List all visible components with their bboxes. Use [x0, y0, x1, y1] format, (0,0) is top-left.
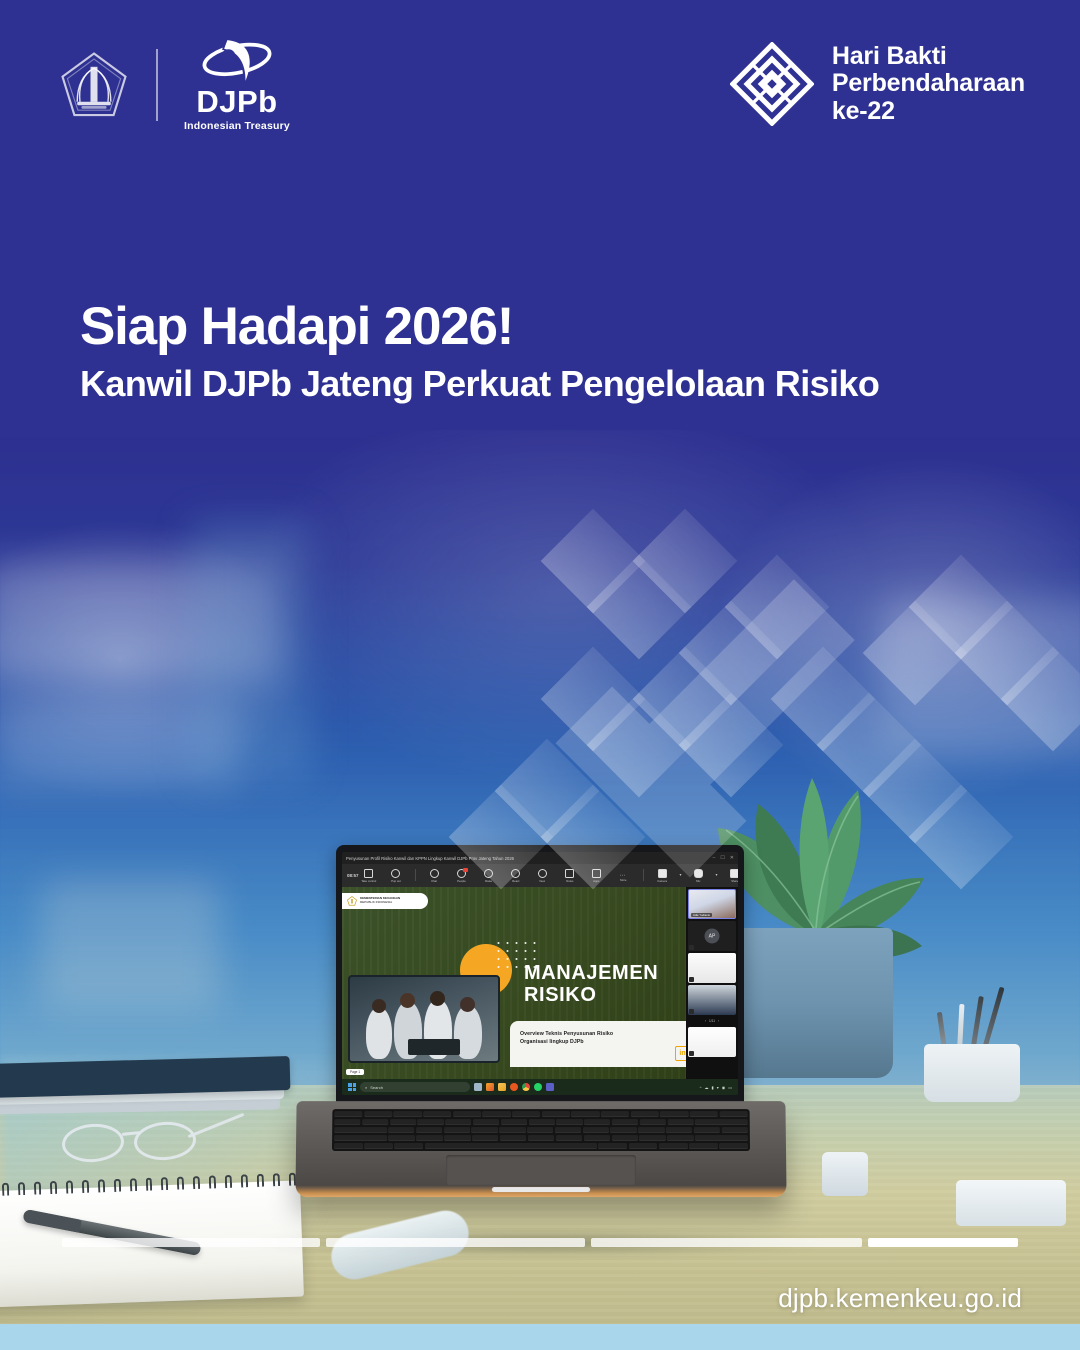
slide-title-line1: MANAJEMEN	[524, 963, 658, 985]
firefox-icon[interactable]	[510, 1083, 518, 1091]
hari-bakti-wordmark: Hari Bakti Perbendaharaan ke-22	[832, 43, 1025, 126]
avatar: AP	[705, 929, 720, 944]
meeting-window-titlebar: Penyusunan Profil Risiko Kanwil dan KPPN…	[342, 852, 738, 864]
hari-bakti-line2: Perbendaharaan	[832, 70, 1025, 98]
toolbar-item-notes[interactable]: Notes	[560, 869, 580, 883]
participant-tile[interactable]	[688, 985, 736, 1015]
headline-block: Siap Hadapi 2026! Kanwil DJPb Jateng Per…	[80, 300, 879, 403]
network-icon[interactable]: ▮	[712, 1085, 714, 1090]
cup-body	[924, 1044, 1020, 1102]
mic-icon	[694, 869, 703, 878]
view-icon	[538, 869, 547, 878]
progress-segment[interactable]	[326, 1238, 584, 1247]
toolbar-item-share[interactable]: Share	[725, 869, 738, 883]
store-icon[interactable]	[486, 1083, 494, 1091]
progress-segment[interactable]	[62, 1238, 320, 1247]
participant-rail[interactable]: Adie Yudianto AP ‹	[686, 887, 738, 1079]
maximize-icon[interactable]: ☐	[720, 855, 724, 861]
toolbar-label: Raise	[485, 879, 492, 883]
meeting-toolbar: 08:57 Take control Pop out	[342, 864, 738, 887]
progress-segment[interactable]	[591, 1238, 863, 1247]
hari-bakti-line1: Hari Bakti	[832, 43, 1025, 71]
djpb-wordmark: DJPb	[196, 86, 277, 117]
minimize-icon[interactable]: –	[713, 855, 716, 861]
hari-bakti-line3: ke-22	[832, 98, 1025, 126]
laptop-keyboard	[332, 1109, 750, 1151]
windows-taskbar[interactable]: ⌕ Search ^ ☁ ▮ ▾ ◉	[342, 1079, 738, 1095]
slide-caption-card: Overview Teknis Penyusunan Risiko Organi…	[510, 1021, 686, 1067]
toolbar-label: Camera	[658, 879, 668, 883]
chat-icon	[430, 869, 439, 878]
toolbar-label: Share	[731, 879, 738, 883]
task-view-icon[interactable]	[474, 1083, 482, 1091]
laptop-lid: Penyusunan Profil Risiko Kanwil dan KPPN…	[336, 845, 744, 1105]
teams-icon[interactable]	[546, 1083, 554, 1091]
toolbar-label: Take control	[361, 879, 376, 883]
mic-off-icon	[689, 977, 694, 982]
slide-caption-line2: Organisasi lingkup DJPb	[520, 1038, 686, 1046]
camera-icon	[658, 869, 667, 878]
toolbar-item-raise[interactable]: Raise	[479, 869, 499, 883]
participant-tile[interactable]: AP	[688, 921, 736, 951]
toolbar-label: More	[620, 878, 626, 882]
show-hidden-icons-icon[interactable]: ^	[700, 1085, 702, 1090]
pencil-cup	[924, 1010, 1020, 1102]
toolbar-label: Apps	[593, 879, 599, 883]
story-progress-bar[interactable]	[62, 1238, 1018, 1247]
participant-tile[interactable]	[688, 953, 736, 983]
djpb-tagline: Indonesian Treasury	[184, 120, 290, 132]
backdrop-blur-shape	[880, 600, 1080, 760]
page-subtitle: Kanwil DJPb Jateng Perkuat Pengelolaan R…	[80, 365, 879, 403]
poster-canvas: Penyusunan Profil Risiko Kanwil dan KPPN…	[0, 0, 1080, 1350]
slide-page-chip[interactable]: Page 1	[346, 1069, 364, 1075]
participant-pager[interactable]: ‹ 1/11 ›	[688, 1017, 736, 1025]
close-icon[interactable]: ✕	[730, 855, 734, 861]
pager-next-icon[interactable]: ›	[718, 1019, 719, 1023]
toolbar-item-pop-out[interactable]: Pop out	[386, 869, 406, 883]
taskbar-search-input[interactable]: ⌕ Search	[360, 1082, 470, 1092]
battery-icon[interactable]: ▭	[728, 1085, 732, 1090]
window-controls[interactable]: – ☐ ✕	[713, 855, 734, 861]
chevron-down-icon[interactable]: ▾	[680, 872, 682, 877]
pager-prev-icon[interactable]: ‹	[705, 1019, 706, 1023]
toolbar-item-mic[interactable]: Mic	[689, 869, 709, 883]
toolbar-divider	[643, 869, 644, 881]
toolbar-label: Pop out	[391, 879, 400, 883]
toolbar-item-react[interactable]: React	[506, 869, 526, 883]
header-left-logo-group: DJPb Indonesian Treasury	[58, 38, 290, 132]
whatsapp-icon[interactable]	[534, 1083, 542, 1091]
onedrive-icon[interactable]: ☁	[705, 1085, 709, 1090]
toolbar-label: React	[512, 879, 519, 883]
toolbar-item-chat[interactable]: Chat	[425, 869, 445, 883]
toolbar-item-apps[interactable]: Apps	[587, 869, 607, 883]
participant-name: Adie Yudianto	[691, 913, 712, 917]
meeting-content-area: KEMENTERIAN KEUANGAN REPUBLIK INDONESIA	[342, 887, 738, 1079]
mic-off-icon	[689, 1051, 694, 1056]
djpb-swoosh-icon	[194, 38, 280, 84]
pop-out-icon	[391, 869, 400, 878]
backdrop-blur-shape	[190, 520, 310, 780]
toolbar-item-people[interactable]: People	[452, 869, 472, 883]
linkedin-icon: in	[675, 1046, 686, 1061]
laptop-front-notch	[492, 1187, 590, 1192]
header-right-logo-group: Hari Bakti Perbendaharaan ke-22	[730, 42, 1025, 126]
logo-divider	[156, 49, 158, 121]
meeting-clock: 08:57	[347, 873, 359, 878]
search-icon: ⌕	[365, 1085, 367, 1090]
toolbar-item-view[interactable]: View	[533, 869, 553, 883]
slide-caption-line1: Overview Teknis Penyusunan Risiko	[520, 1030, 686, 1038]
take-control-icon	[364, 869, 373, 878]
backdrop-blur-shape	[40, 880, 220, 1010]
meeting-tool-group: Take control Pop out Chat	[359, 869, 738, 883]
meeting-window-title: Penyusunan Profil Risiko Kanwil dan KPPN…	[346, 856, 514, 861]
slide-org-chip: KEMENTERIAN KEUANGAN REPUBLIK INDONESIA	[342, 893, 428, 909]
raise-hand-icon	[484, 869, 493, 878]
laptop-trackpad	[446, 1155, 636, 1185]
slide-photo	[348, 975, 500, 1063]
participant-tile[interactable]: Adie Yudianto	[688, 889, 736, 919]
toolbar-divider	[415, 869, 416, 881]
eyeglasses	[62, 1122, 242, 1166]
progress-segment-active[interactable]	[868, 1238, 1018, 1247]
shared-slide: KEMENTERIAN KEUANGAN REPUBLIK INDONESIA	[342, 887, 686, 1079]
toolbar-label: People	[457, 879, 466, 883]
laptop-screen: Penyusunan Profil Risiko Kanwil dan KPPN…	[342, 852, 738, 1095]
desk-object-block	[822, 1152, 868, 1196]
mic-off-icon	[689, 945, 694, 950]
kemenkeu-seal-icon	[347, 896, 357, 906]
slide-title: MANAJEMEN RISIKO	[524, 963, 658, 1006]
system-tray[interactable]: ^ ☁ ▮ ▾ ◉ ▭	[700, 1085, 732, 1090]
page-title: Siap Hadapi 2026!	[80, 300, 879, 353]
chevron-down-icon[interactable]: ▾	[716, 872, 718, 877]
toolbar-item-camera[interactable]: Camera	[653, 869, 673, 883]
people-badge	[463, 868, 468, 872]
file-explorer-icon[interactable]	[498, 1083, 506, 1091]
website-url[interactable]: djpb.kemenkeu.go.id	[778, 1283, 1022, 1314]
more-dots-icon: •••	[621, 873, 627, 877]
mic-off-icon	[689, 1009, 694, 1014]
toolbar-label: View	[540, 879, 546, 883]
notes-icon	[565, 869, 574, 878]
hari-bakti-diamond-icon	[730, 42, 814, 126]
toolbar-label: Chat	[432, 879, 438, 883]
laptop-base	[295, 1101, 786, 1197]
toolbar-label: Notes	[566, 879, 573, 883]
kemenkeu-seal-icon	[58, 50, 130, 120]
react-icon	[511, 869, 520, 878]
org-chip-line2: REPUBLIK INDONESIA	[360, 901, 400, 905]
participant-tile[interactable]	[688, 1027, 736, 1057]
toolbar-item-take-control[interactable]: Take control	[359, 869, 379, 883]
pager-label: 1/11	[709, 1019, 715, 1023]
bottom-accent-band	[0, 1324, 1080, 1350]
slide-title-line2: RISIKO	[524, 985, 658, 1007]
start-button-icon[interactable]	[348, 1083, 356, 1091]
page-chip-label: Page 1	[350, 1070, 360, 1074]
search-placeholder: Search	[370, 1085, 383, 1090]
volume-icon[interactable]: ◉	[722, 1085, 726, 1090]
apps-icon	[592, 869, 601, 878]
wifi-icon[interactable]: ▾	[717, 1085, 719, 1090]
toolbar-item-more[interactable]: ••• More	[614, 869, 634, 882]
laptop: Penyusunan Profil Risiko Kanwil dan KPPN…	[296, 845, 786, 1255]
chrome-icon[interactable]	[522, 1083, 530, 1091]
share-screen-icon	[730, 869, 738, 878]
people-icon	[457, 869, 466, 878]
desk-object-pad	[956, 1180, 1066, 1226]
toolbar-label: Mic	[696, 879, 700, 883]
djpb-logo: DJPb Indonesian Treasury	[184, 38, 290, 132]
